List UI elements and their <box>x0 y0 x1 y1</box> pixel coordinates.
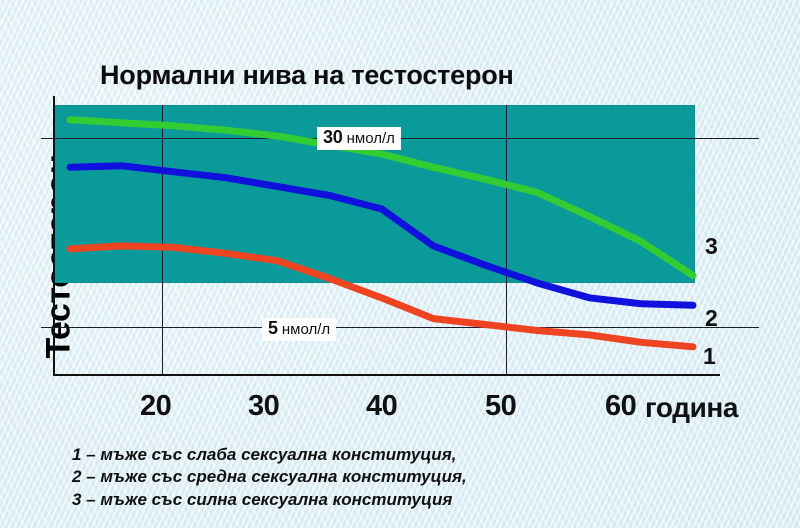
curve-medium <box>70 166 693 305</box>
x-tick-60: 60 <box>605 390 636 423</box>
callout-5-value: 5 <box>268 318 278 338</box>
legend: 1 – мъже със слаба сексуална конституция… <box>72 444 467 511</box>
callout-5-unit: нмол/л <box>282 321 330 338</box>
legend-item-3: 3 – мъже със силна сексуална конституция <box>72 489 467 511</box>
callout-30-value: 30 <box>323 127 342 147</box>
series-end-label-strong: 3 <box>705 233 718 260</box>
x-tick-30: 30 <box>248 390 279 423</box>
legend-key-2: 2 – <box>72 467 100 486</box>
legend-item-1: 1 – мъже със слаба сексуална конституция… <box>72 444 467 466</box>
legend-key-3: 3 – <box>72 490 100 509</box>
plot-area: 30 нмол/л 5 нмол/л <box>53 96 720 376</box>
page-title: Нормални нива на тестостерон <box>100 60 514 91</box>
x-tick-50: 50 <box>485 390 516 423</box>
callout-30-unit: нмол/л <box>347 130 395 147</box>
series-end-label-weak: 1 <box>703 343 716 370</box>
legend-item-2: 2 – мъже със средна сексуална конституци… <box>72 466 467 488</box>
x-axis-title: година <box>645 392 738 424</box>
y-axis-line <box>53 96 55 376</box>
callout-30-nmol: 30 нмол/л <box>317 127 401 150</box>
legend-text-1: мъже със слаба сексуална конституция, <box>100 445 456 464</box>
series-end-label-medium: 2 <box>705 305 718 332</box>
x-tick-20: 20 <box>140 390 171 423</box>
legend-key-1: 1 – <box>72 445 100 464</box>
x-tick-40: 40 <box>366 390 397 423</box>
chart-stage: Нормални нива на тестостерон Тестостерон… <box>0 0 800 528</box>
callout-5-nmol: 5 нмол/л <box>262 318 336 341</box>
x-axis-line <box>53 374 720 376</box>
legend-text-3: мъже със силна сексуална конституция <box>100 490 452 509</box>
legend-text-2: мъже със средна сексуална конституция, <box>100 467 466 486</box>
